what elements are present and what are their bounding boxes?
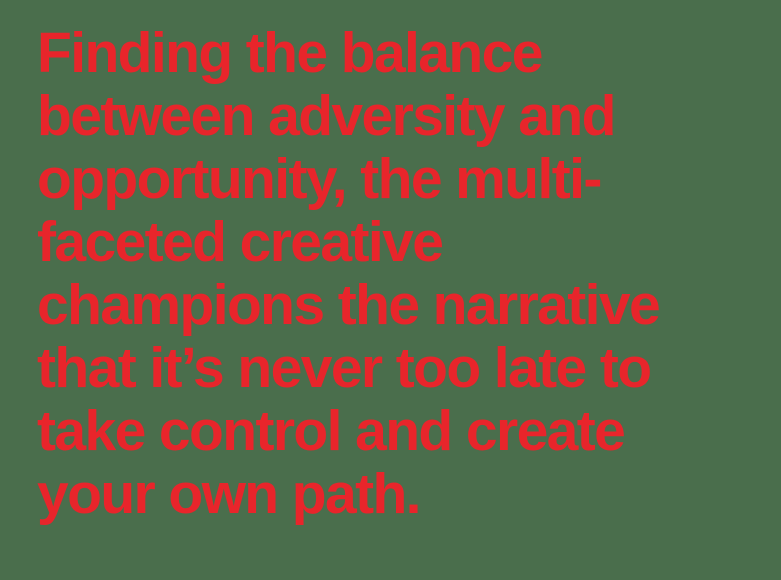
quote-line-2: between adversity and — [37, 85, 757, 148]
quote-card: Finding the balance between adversity an… — [0, 0, 781, 580]
quote-line-8: your own path. — [37, 463, 757, 526]
quote-line-4: faceted creative — [37, 211, 757, 274]
quote-line-6: that it’s never too late to — [37, 337, 757, 400]
quote-line-7: take control and create — [37, 400, 757, 463]
quote-line-1: Finding the balance — [37, 22, 757, 85]
quote-text-block: Finding the balance between adversity an… — [37, 22, 757, 526]
quote-line-5: champions the narrative — [37, 274, 757, 337]
quote-line-3: opportunity, the multi- — [37, 148, 757, 211]
